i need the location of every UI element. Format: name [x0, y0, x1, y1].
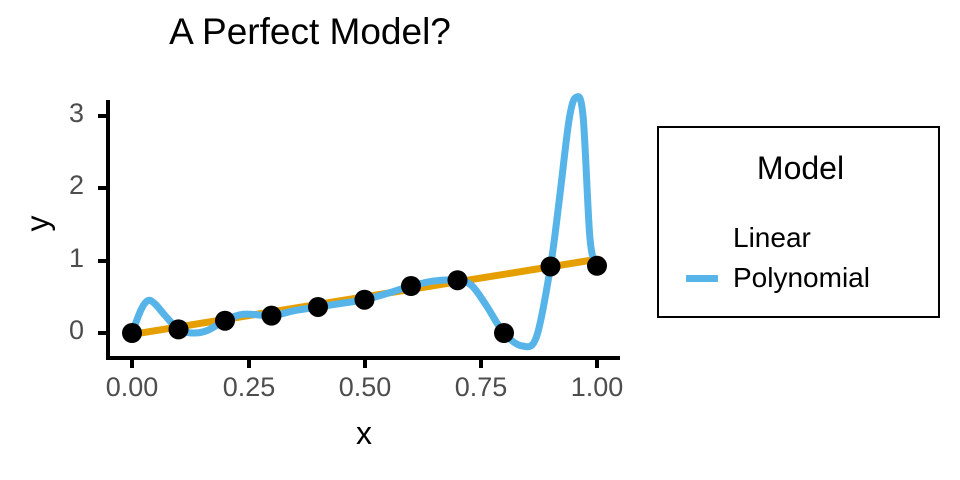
y-axis-title: y: [20, 204, 57, 244]
data-point: [262, 306, 282, 326]
data-point: [541, 256, 561, 276]
chart-figure: A Perfect Model?: [0, 0, 960, 480]
y-tick-label-2: 2: [44, 170, 84, 201]
data-point: [448, 270, 468, 290]
data-point: [355, 290, 375, 310]
legend-item-linear[interactable]: Linear: [681, 218, 931, 258]
legend-title: Model: [659, 150, 942, 187]
legend-item-polynomial[interactable]: Polynomial: [681, 258, 931, 298]
x-tick-label-3: 0.75: [421, 372, 541, 403]
data-point: [494, 323, 514, 343]
legend-label-linear: Linear: [723, 222, 811, 254]
data-point: [169, 319, 189, 339]
plot-canvas: [0, 0, 660, 480]
data-point: [215, 311, 235, 331]
data-point: [401, 276, 421, 296]
x-tick-label-0: 0.00: [72, 372, 192, 403]
data-point: [122, 323, 142, 343]
plot-area: 3 2 1 0 0.00 0.25 0.50 0.75 1.00 x y: [0, 0, 660, 480]
legend-label-polynomial: Polynomial: [723, 262, 870, 294]
legend-key-polynomial-icon: [681, 258, 723, 298]
x-axis-title: x: [108, 415, 620, 452]
x-tick-label-4: 1.00: [537, 372, 657, 403]
legend-key-linear-icon: [681, 218, 723, 258]
y-tick-label-0: 0: [44, 315, 84, 346]
y-tick-label-3: 3: [44, 98, 84, 129]
x-tick-label-2: 0.50: [305, 372, 425, 403]
data-point: [587, 256, 607, 276]
legend: Model Linear Polynomial: [657, 126, 940, 318]
data-point: [308, 297, 328, 317]
x-tick-label-1: 0.25: [189, 372, 309, 403]
y-tick-label-1: 1: [44, 243, 84, 274]
